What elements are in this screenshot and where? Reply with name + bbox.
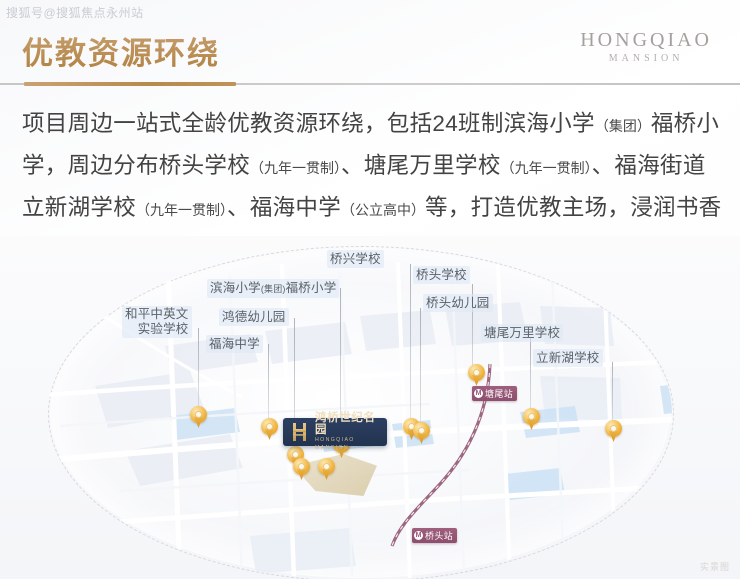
metro-station-tangwei-label: 塘尾站: [485, 387, 513, 400]
location-map[interactable]: 和平中英文 实验学校 福海中学 鸿德幼儿园 滨海小学(集团)福桥小学 桥兴学校 …: [0, 236, 740, 579]
map-label-qiaotouk-text: 桥头幼儿园: [426, 296, 490, 310]
map-label-heping-line1: 和平中英文: [125, 307, 189, 322]
pin-dot-icon: [266, 423, 273, 430]
project-badge[interactable]: 鸿桥世纪名园 HONGQIAO MANSION: [283, 418, 387, 446]
map-label-qiaoxing-text: 桥兴学校: [330, 252, 381, 266]
map-label-qiaotou-school[interactable]: 桥头学校: [413, 266, 470, 284]
desc-seg-5: 、福海中学: [227, 195, 341, 220]
map-label-fuhai-text: 福海中学: [209, 337, 260, 351]
desc-note-3: （九年一贯制）: [501, 160, 592, 176]
map-label-fuhai-middle[interactable]: 福海中学: [206, 335, 263, 353]
brand-name: HONGQIAO: [580, 30, 712, 51]
brand-logo: HONGQIAO MANSION: [580, 30, 712, 64]
watermark-top: 搜狐号@搜狐焦点永州站: [6, 4, 144, 21]
metro-line: [0, 236, 740, 579]
map-label-fuqiao-text: 福桥小学: [286, 281, 337, 295]
map-label-binhai-text: 滨海小学: [210, 281, 261, 295]
map-label-hongde-kindergarten[interactable]: 鸿德幼儿园: [219, 308, 289, 326]
map-label-qiaotou-text: 桥头学校: [416, 268, 467, 282]
map-pin-lixinhu[interactable]: [605, 420, 622, 443]
pin-dot-icon: [418, 427, 425, 434]
divider-gold: [24, 82, 236, 86]
metro-station-qiaotou-label: 桥头站: [425, 529, 453, 542]
metro-logo-icon: M: [414, 531, 423, 540]
map-label-lixinhu-school[interactable]: 立新湖学校: [533, 349, 603, 367]
metro-station-tangwei[interactable]: M 塘尾站: [472, 386, 517, 401]
leader-line-heping: [198, 328, 199, 408]
pin-dot-icon: [195, 411, 202, 418]
project-name-cn: 鸿桥世纪名园: [315, 412, 387, 436]
pin-dot-icon: [610, 425, 617, 432]
project-badge-text: 鸿桥世纪名园 HONGQIAO MANSION: [315, 412, 387, 452]
map-label-heping-school[interactable]: 和平中英文 实验学校: [122, 306, 192, 338]
title-divider: [0, 82, 740, 87]
map-label-binhai-fuqiao[interactable]: 滨海小学(集团)福桥小学: [207, 279, 339, 298]
leader-line-qiaotou-yey: [420, 308, 421, 424]
map-label-binhai-note: (集团): [261, 284, 286, 294]
map-pin-tangwei-station[interactable]: [468, 364, 485, 387]
pin-dot-icon: [323, 463, 330, 470]
map-label-heping-line2: 实验学校: [125, 322, 189, 337]
pin-dot-icon: [528, 413, 535, 420]
page-root: 搜狐号@搜狐焦点永州站 优教资源环绕 HONGQIAO MANSION 项目周边…: [0, 0, 740, 579]
map-pin-heping[interactable]: [190, 406, 207, 429]
map-pin-south-b[interactable]: [318, 458, 335, 481]
map-pin-tangwei[interactable]: [523, 408, 540, 431]
desc-seg-1: 项目周边一站式全龄优教资源环绕，包括24班制滨海小学: [22, 111, 595, 136]
map-label-lixinhu-text: 立新湖学校: [536, 351, 600, 365]
map-pin-south-a[interactable]: [293, 458, 310, 481]
map-label-tangwei-text: 塘尾万里学校: [484, 326, 560, 340]
leader-line-tangwei: [530, 338, 531, 410]
watermark-bottom: 实景图: [700, 560, 730, 573]
map-label-qiaoxing-school[interactable]: 桥兴学校: [327, 250, 384, 268]
map-label-tangwei-wanli[interactable]: 塘尾万里学校: [481, 324, 563, 342]
desc-note-4: （九年一贯制）: [136, 202, 227, 218]
metro-station-qiaotou[interactable]: M 桥头站: [412, 528, 457, 543]
map-pin-qiaotou-kindergarten[interactable]: [413, 422, 430, 445]
brand-subtitle: MANSION: [580, 53, 712, 64]
leader-line-lixinhu: [612, 362, 613, 422]
desc-seg-3: 、塘尾万里学校: [341, 153, 501, 178]
pin-dot-icon: [473, 369, 480, 376]
desc-note-5: （公立高中）: [341, 202, 425, 218]
map-pin-fuhai[interactable]: [261, 418, 278, 441]
desc-note-2: （九年一贯制）: [250, 160, 341, 176]
metro-logo-icon: M: [474, 389, 483, 398]
map-label-qiaotou-kindergarten[interactable]: 桥头幼儿园: [423, 294, 493, 312]
leader-line-qiaoxing: [410, 264, 411, 420]
hongqiao-logo-icon: [288, 422, 312, 442]
desc-note-1: （集团）: [595, 118, 651, 134]
project-name-en: HONGQIAO MANSION: [315, 436, 387, 452]
leader-line-fuhai: [268, 344, 269, 420]
pin-dot-icon: [298, 463, 305, 470]
pin-dot-icon: [292, 451, 299, 458]
map-label-hongde-text: 鸿德幼儿园: [222, 310, 286, 324]
page-title: 优教资源环绕: [22, 28, 220, 73]
